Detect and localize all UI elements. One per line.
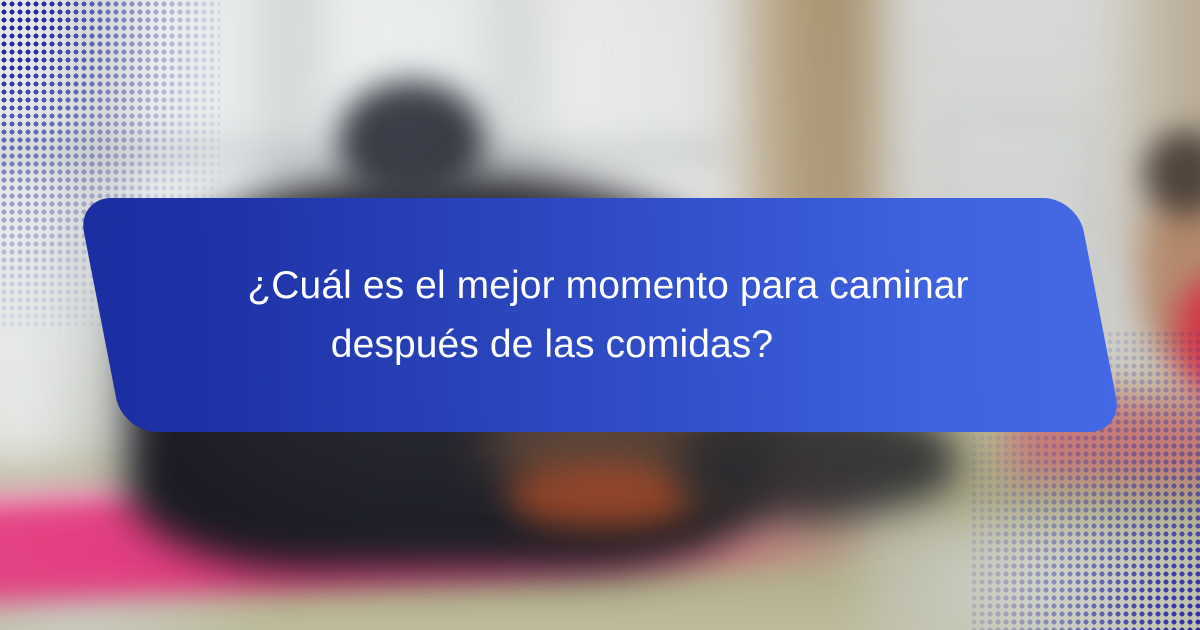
social-card-stage: ¿Cuál es el mejor momento para caminar d… bbox=[0, 0, 1200, 630]
question-line-1: ¿Cuál es el mejor momento para caminar bbox=[247, 256, 968, 315]
question-banner-text: ¿Cuál es el mejor momento para caminar d… bbox=[100, 198, 1100, 432]
question-line-2: después de las comidas? bbox=[331, 315, 773, 374]
question-banner: ¿Cuál es el mejor momento para caminar d… bbox=[100, 198, 1100, 432]
